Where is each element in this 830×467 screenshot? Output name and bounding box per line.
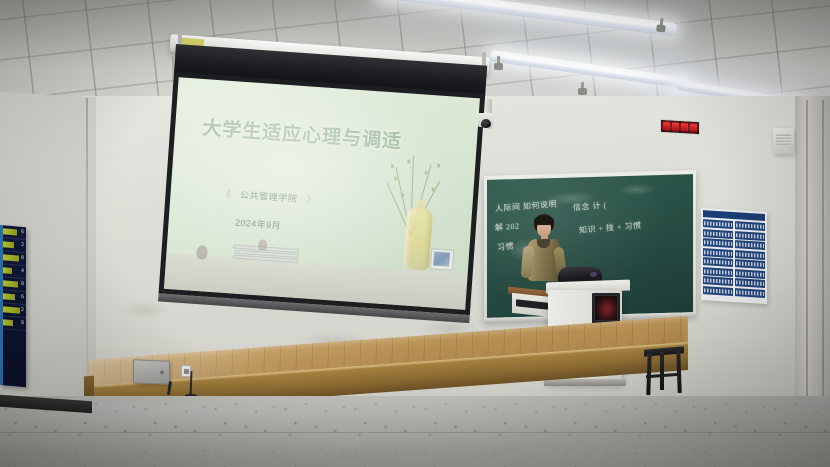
- light-hanger: [581, 82, 584, 91]
- stool-leg: [660, 352, 664, 390]
- led-segment: [672, 123, 679, 131]
- chalk-line: 知识 + 技 + 习惯: [579, 220, 642, 236]
- poster-cell: [703, 219, 733, 229]
- chalk-line: 习惯: [497, 241, 515, 253]
- poster-cell: [703, 267, 733, 277]
- screen-bracket: [482, 52, 486, 66]
- wall-seam: [86, 98, 88, 398]
- poster-cell: [735, 278, 765, 288]
- chart-row-value: 8: [21, 320, 24, 326]
- wall-speaker-device: [773, 128, 794, 154]
- chart-row-value: 0: [21, 281, 24, 287]
- chalk-line: 人际间 如何说明: [495, 198, 557, 214]
- figurine-decor: [257, 240, 267, 252]
- slide-title: 大学生适应心理与调适: [202, 113, 403, 154]
- slide-surface: 大学生适应心理与调适 《 公共管理学院 》 2024年9月: [164, 77, 480, 310]
- chalk-line: 信念 计 (: [573, 200, 607, 214]
- presenter-fringe: [534, 216, 554, 225]
- led-segment: [681, 123, 688, 131]
- floor-seam: [0, 432, 830, 433]
- door-edge-line: [806, 100, 808, 396]
- slide-organization: 公共管理学院: [240, 188, 298, 205]
- led-segment: [690, 124, 697, 132]
- chart-row-value: 8: [21, 255, 24, 261]
- poster-cell: [735, 221, 765, 231]
- light-hanger: [497, 56, 500, 66]
- poster-cell: [703, 276, 733, 286]
- bracket-right: 》: [306, 192, 316, 206]
- poster-cell: [735, 269, 765, 279]
- chart-row-value: 2: [21, 307, 24, 313]
- stool: [644, 348, 684, 396]
- wall-poster-right: [701, 208, 767, 304]
- poster-cell: [735, 250, 765, 260]
- chart-row-value: 2: [21, 242, 24, 248]
- poster-cell: [735, 231, 765, 241]
- chart-row-value: 4: [21, 268, 24, 274]
- poster-cell: [703, 229, 733, 239]
- framed-picture-decor: [430, 248, 454, 271]
- chart-row: 8: [3, 316, 26, 331]
- poster-cell: [735, 259, 765, 269]
- light-hanger: [659, 18, 663, 28]
- door-edge-line: [822, 100, 824, 396]
- lectern-base: [544, 379, 626, 386]
- chart-row-value: 6: [21, 294, 24, 300]
- vase-decor: [403, 207, 433, 271]
- poster-cell: [703, 248, 733, 258]
- bracket-left: 《: [222, 187, 232, 201]
- poster-cell: [703, 238, 733, 248]
- poster-grid: [703, 219, 765, 297]
- led-segment: [663, 122, 670, 130]
- led-clock-display: [660, 119, 700, 135]
- projection-screen[interactable]: 大学生适应心理与调适 《 公共管理学院 》 2024年9月: [158, 44, 487, 317]
- slide-subtitle-row: 《 公共管理学院 》: [222, 187, 316, 207]
- poster-cell: [735, 288, 765, 298]
- screen-border: 大学生适应心理与调适 《 公共管理学院 》 2024年9月: [159, 72, 486, 315]
- lectern-control-screen[interactable]: [594, 295, 618, 321]
- lecture-hall-photo: 6 2 8 4 0 6 2 8: [0, 0, 830, 467]
- screen-bracket: [178, 30, 182, 44]
- door-frame: [795, 96, 830, 396]
- poster-cell: [703, 286, 733, 296]
- wall-junction-box: [133, 359, 170, 385]
- poster-cell: [735, 240, 765, 250]
- poster-cell: [703, 257, 733, 267]
- wall-chart-left: 6 2 8 4 0 6 2 8: [0, 225, 26, 387]
- wall-smudge: [120, 300, 170, 320]
- chalk-line: 解 202: [495, 220, 520, 233]
- chalk-dust: [617, 183, 657, 196]
- chart-row-value: 6: [21, 229, 24, 235]
- slide-date: 2024年9月: [235, 215, 282, 231]
- camera-lens-icon: [481, 119, 491, 128]
